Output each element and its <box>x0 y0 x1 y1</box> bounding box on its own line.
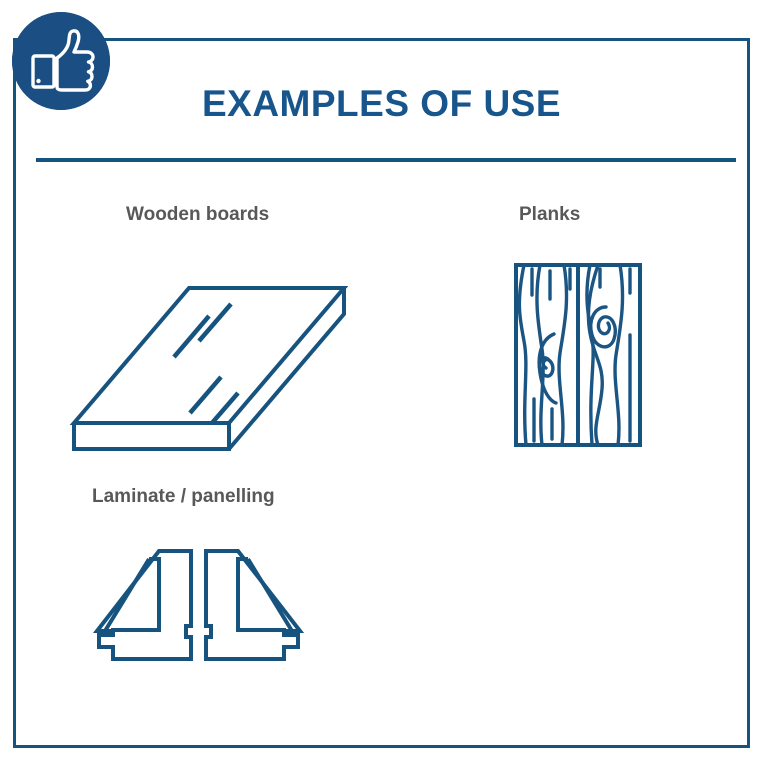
examples-of-use-card: EXAMPLES OF USE Wooden boards Planks <box>0 0 768 768</box>
page-title: EXAMPLES OF USE <box>16 83 747 125</box>
section-label-laminate-panelling: Laminate / panelling <box>92 486 275 508</box>
title-divider <box>36 158 736 162</box>
wooden-board-icon <box>66 271 356 466</box>
planks-icon <box>494 249 644 454</box>
section-label-planks: Planks <box>519 204 580 226</box>
thumbs-up-icon <box>12 12 110 110</box>
laminate-panelling-icon <box>91 531 306 686</box>
thumbs-up-badge <box>12 12 110 110</box>
section-label-wooden-boards: Wooden boards <box>126 204 269 226</box>
card-frame: EXAMPLES OF USE Wooden boards Planks <box>13 38 750 748</box>
